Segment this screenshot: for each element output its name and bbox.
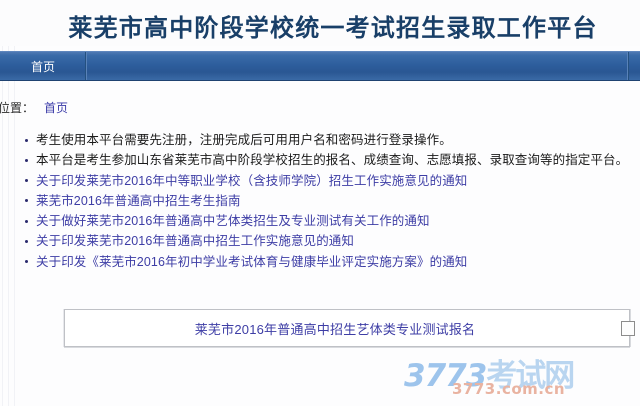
- site-title: 莱芜市高中阶段学校统一考试招生录取工作平台: [0, 8, 640, 43]
- panel-link-art-sports-registration[interactable]: 莱芜市2016年普通高中招生艺体类专业测试报名: [195, 319, 476, 338]
- panel-edge-checkbox[interactable]: [621, 321, 635, 336]
- list-item[interactable]: 莱芜市2016年普通高中招生考生指南: [36, 191, 640, 211]
- announcement-panel: 莱芜市2016年普通高中招生艺体类专业测试报名: [64, 309, 630, 347]
- watermark-logo-text: 3773考试网: [404, 350, 573, 395]
- watermark-chinese: 考试网: [486, 358, 573, 394]
- main-navigation-bar: 首页: [0, 51, 640, 81]
- list-item[interactable]: 关于做好莱芜市2016年普通高中艺体类招生及专业测试有关工作的通知: [36, 211, 640, 231]
- list-item: 考生使用本平台需要先注册，注册完成后可用用户名和密码进行登录操作。: [36, 130, 640, 150]
- list-item[interactable]: 关于印发莱芜市2016年中等职业学校（含技师学院）招生工作实施意见的通知: [36, 171, 640, 191]
- page-root: 莱芜市高中阶段学校统一考试招生录取工作平台 首页 前位置：首页 考生使用本平台需…: [0, 0, 640, 406]
- watermark-digits: 3773: [404, 358, 486, 394]
- nav-empty-space: [87, 52, 627, 80]
- list-item[interactable]: 关于印发《莱芜市2016年初中学业考试体育与健康毕业评定实施方案》的通知: [36, 252, 640, 272]
- breadcrumb-label: 前位置：: [0, 101, 34, 115]
- nav-item-home-label: 首页: [31, 58, 55, 75]
- nav-item-home[interactable]: 首页: [0, 52, 87, 80]
- notice-list: 考生使用本平台需要先注册，注册完成后可用用户名和密码进行登录操作。 本平台是考生…: [18, 130, 640, 272]
- breadcrumb: 前位置：首页: [0, 99, 386, 116]
- nav-end-cap: [627, 52, 640, 80]
- watermark: 3773考试网 3773.com.cn: [404, 350, 636, 398]
- breadcrumb-link-home[interactable]: 首页: [44, 101, 68, 115]
- list-item: 本平台是考生参加山东省莱芜市高中阶段学校招生的报名、成绩查询、志愿填报、录取查询…: [36, 150, 640, 170]
- site-banner: 莱芜市高中阶段学校统一考试招生录取工作平台: [0, 0, 640, 46]
- watermark-domain: 3773.com.cn: [452, 380, 565, 398]
- list-item[interactable]: 关于印发莱芜市2016年普通高中招生工作实施意见的通知: [36, 231, 640, 251]
